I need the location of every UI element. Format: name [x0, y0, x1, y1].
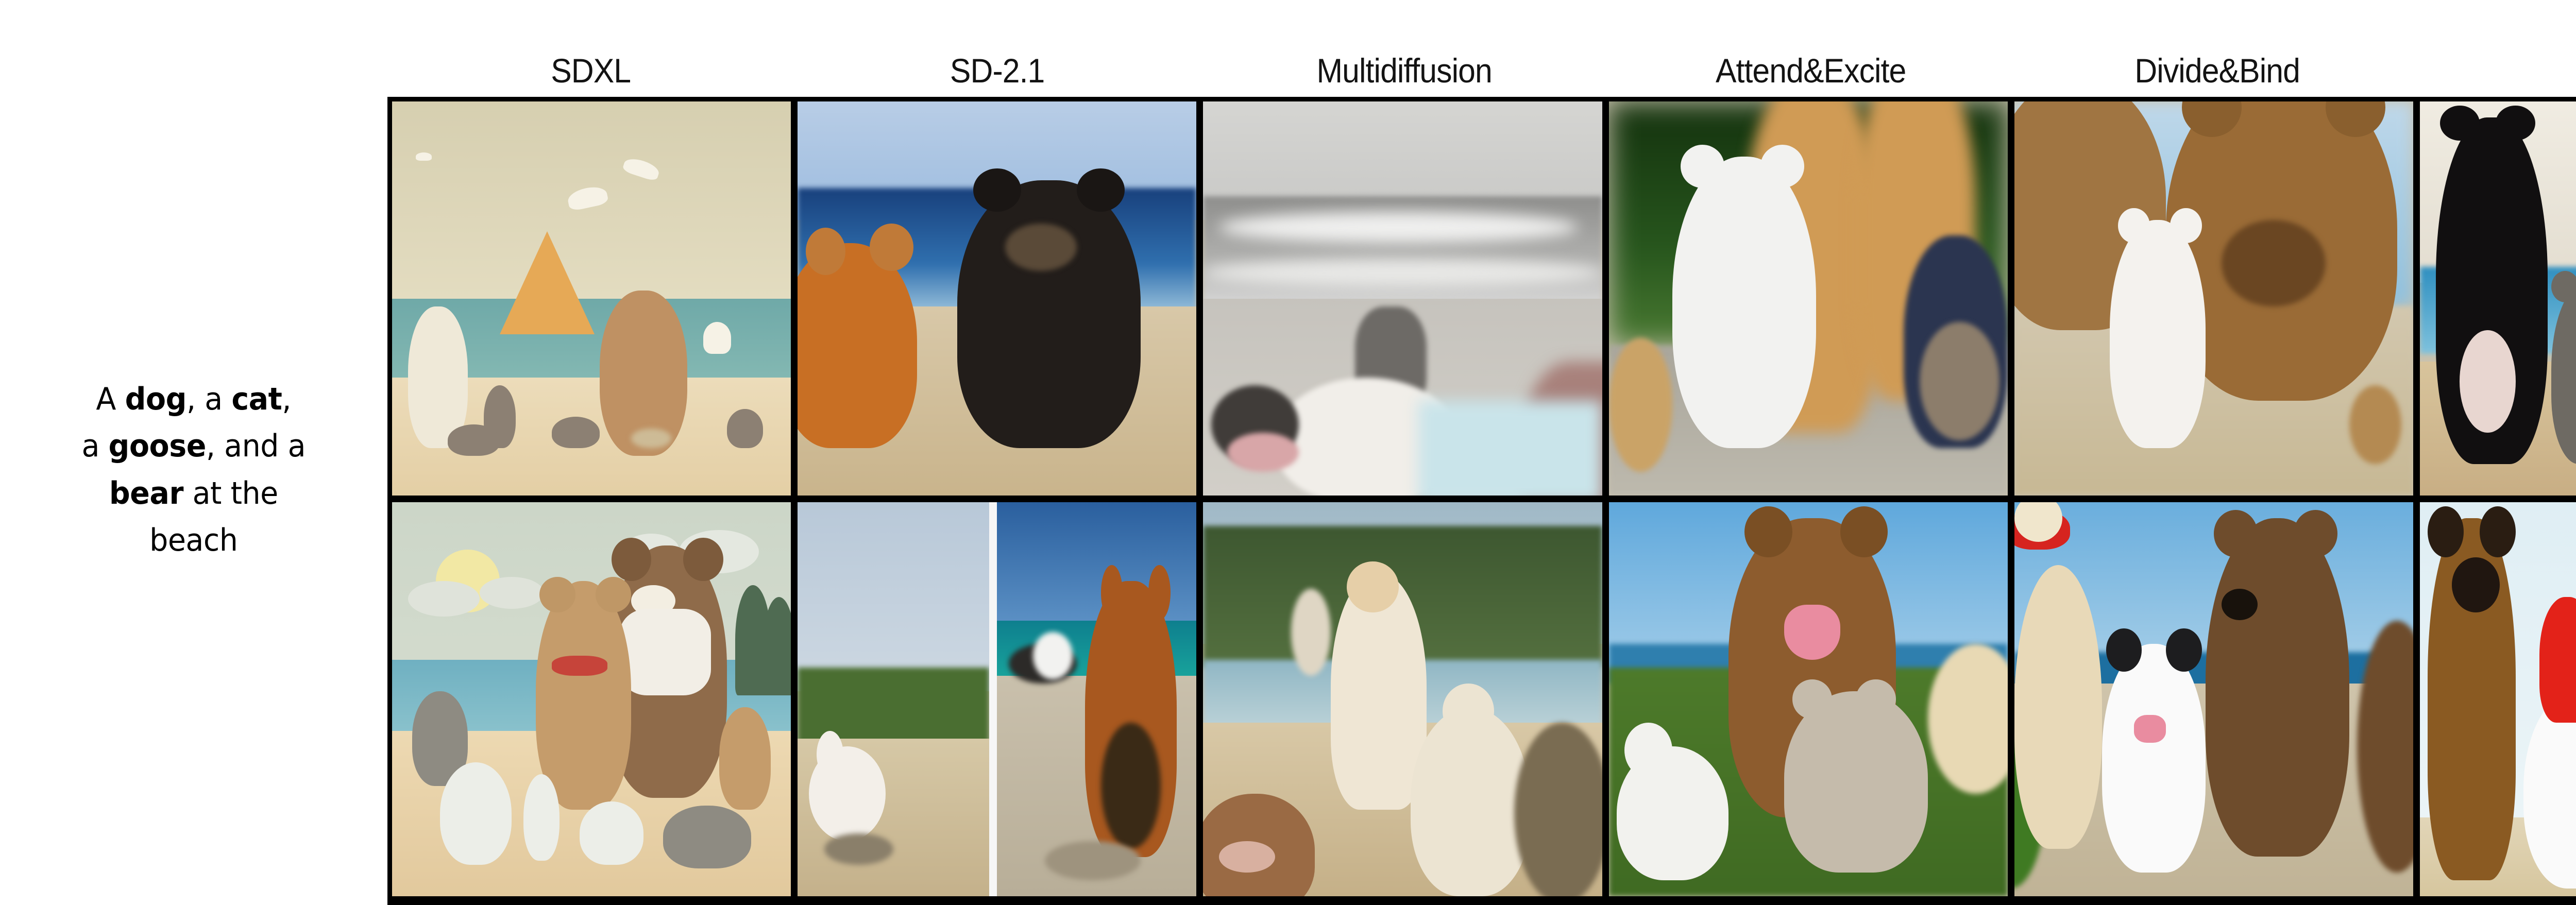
sample-image-attend-excite-row2[interactable]: [1609, 502, 2008, 896]
prompt-line4: beach: [149, 522, 238, 558]
comparison-figure: SDXL SD-2.1 Multidiffusion Attend&Excite…: [0, 0, 2576, 905]
sample-image-ours-row2[interactable]: [2420, 502, 2576, 896]
prompt-line2-suffix: , and a: [206, 428, 306, 464]
prompt-token-goose: goose: [109, 428, 206, 464]
prompt-line1-suffix: ,: [282, 381, 292, 417]
prompt-text: A dog, a cat, a goose, and a bear at the…: [82, 376, 306, 564]
sample-image-divide-bind-row2[interactable]: [2014, 502, 2413, 896]
sample-image-sdxl-row2[interactable]: [392, 502, 791, 896]
sample-image-divide-bind-row1[interactable]: [2014, 101, 2413, 496]
column-header-attend-excite: Attend&Excite: [1624, 54, 1998, 88]
prompt-line1-prefix: A: [96, 381, 125, 417]
column-header-ours: Ours: [2437, 54, 2576, 88]
prompt-token-cat: cat: [232, 381, 282, 417]
prompt-line3-suffix: at the: [183, 475, 278, 511]
figure-corner-spacer: [0, 0, 387, 97]
column-header-sd21: SD-2.1: [810, 54, 1184, 88]
sample-image-multidiffusion-row2[interactable]: [1203, 502, 1602, 896]
column-header-row: SDXL SD-2.1 Multidiffusion Attend&Excite…: [387, 0, 2576, 97]
column-header-multidiffusion: Multidiffusion: [1217, 54, 1591, 88]
sample-image-sdxl-row1[interactable]: [392, 101, 791, 496]
sample-image-multidiffusion-row1[interactable]: [1203, 101, 1602, 496]
sample-image-sd21-row1[interactable]: [798, 101, 1196, 496]
sample-image-ours-row1[interactable]: [2420, 101, 2576, 496]
sample-image-attend-excite-row1[interactable]: [1609, 101, 2008, 496]
prompt-token-dog: dog: [125, 381, 187, 417]
sample-image-sd21-row2[interactable]: [798, 502, 1196, 896]
prompt-cell: A dog, a cat, a goose, and a bear at the…: [0, 97, 387, 905]
prompt-line2-prefix: a: [82, 428, 109, 464]
column-header-sdxl: SDXL: [404, 54, 778, 88]
prompt-token-bear: bear: [109, 475, 183, 511]
image-grid: [387, 97, 2576, 905]
column-header-divide-bind: Divide&Bind: [2030, 54, 2404, 88]
prompt-line1-mid: , a: [187, 381, 231, 417]
